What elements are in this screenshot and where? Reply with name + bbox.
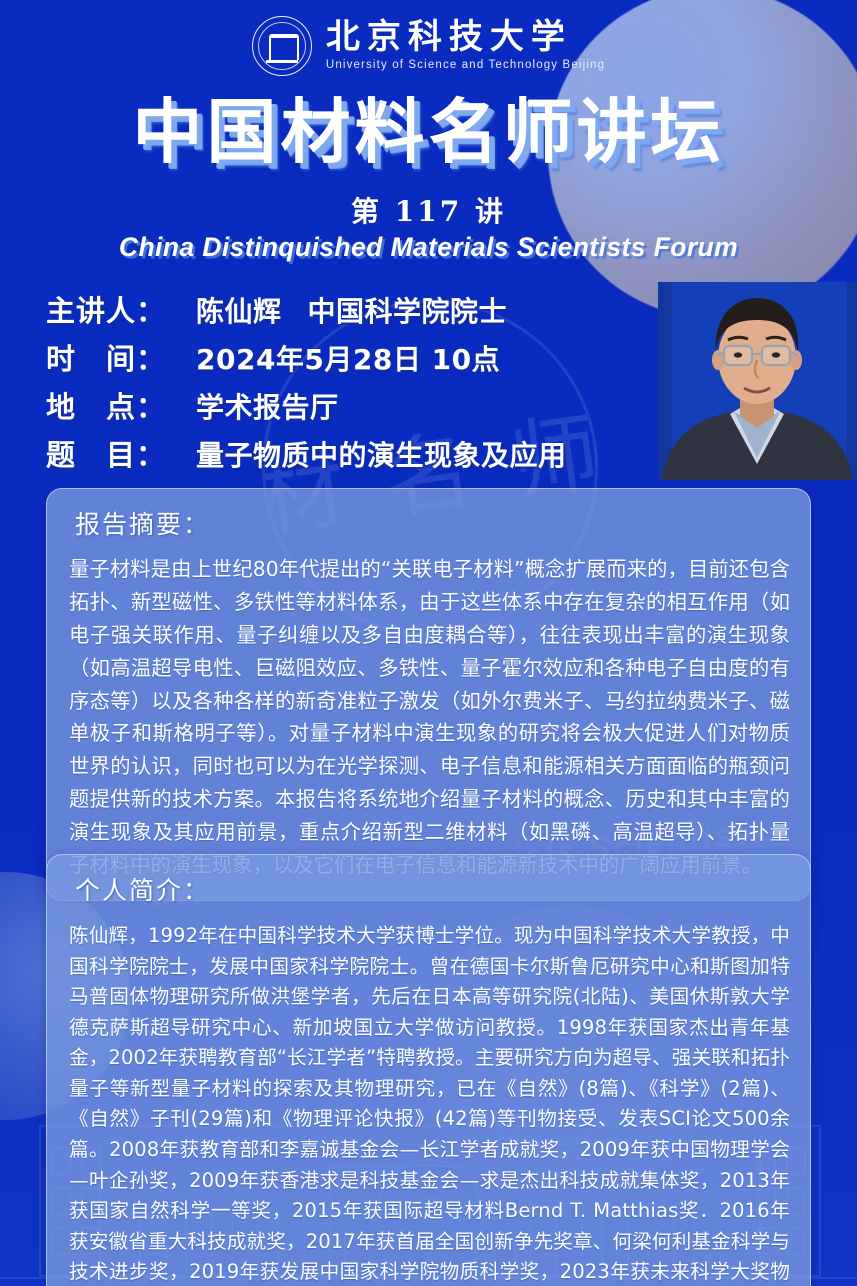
- university-logo: 北京科技大学 University of Science and Technol…: [0, 16, 857, 76]
- abstract-text: 量子材料是由上世纪80年代提出的“关联电子材料”概念扩展而来的，目前还包含拓扑、…: [69, 553, 790, 882]
- subtitle-english: China Distinquished Materials Scientists…: [0, 232, 857, 263]
- speaker-portrait: [658, 282, 857, 480]
- ustb-seal-icon: [252, 16, 312, 76]
- speaker-affiliation: 中国科学院院士: [308, 295, 508, 328]
- info-row-speaker: 主讲人： 陈仙辉中国科学院院士: [46, 288, 666, 330]
- info-row-place: 地 点： 学术报告厅: [46, 384, 666, 426]
- place-value: 学术报告厅: [196, 386, 339, 426]
- abstract-title: 报告摘要：: [75, 505, 790, 541]
- biography-text: 陈仙辉，1992年在中国科学技术大学获博士学位。现为中国科学技术大学教授，中国科…: [69, 921, 790, 1286]
- topic-label: 题 目：: [46, 432, 196, 474]
- time-label: 时 间：: [46, 336, 196, 378]
- session-number: 第 117 讲: [0, 190, 857, 230]
- event-info: 主讲人： 陈仙辉中国科学院院士 时 间： 2024年5月28日 10点 地 点：…: [46, 288, 666, 474]
- poster-root: 材 名 师 Distinquished Materials Scientists: [0, 0, 857, 1286]
- university-name-cn: 北京科技大学: [326, 20, 605, 54]
- speaker-label: 主讲人：: [46, 288, 196, 330]
- time-value: 2024年5月28日 10点: [196, 338, 500, 378]
- main-title: 中国材料名师讲坛: [0, 96, 857, 170]
- info-row-topic: 题 目： 量子物质中的演生现象及应用: [46, 432, 666, 474]
- seal-gate-base: [266, 60, 298, 63]
- abstract-card: 报告摘要： 量子材料是由上世纪80年代提出的“关联电子材料”概念扩展而来的，目前…: [46, 488, 811, 901]
- speaker-name: 陈仙辉: [196, 295, 282, 328]
- logo-wordmark: 北京科技大学 University of Science and Technol…: [326, 20, 605, 72]
- biography-card: 个人简介： 陈仙辉，1992年在中国科学技术大学获博士学位。现为中国科学技术大学…: [46, 854, 811, 1286]
- portrait-image: [658, 282, 857, 480]
- topic-value: 量子物质中的演生现象及应用: [196, 434, 567, 474]
- biography-title: 个人简介：: [75, 871, 790, 907]
- place-label: 地 点：: [46, 384, 196, 426]
- university-name-en: University of Science and Technology Bei…: [326, 60, 605, 72]
- info-row-time: 时 间： 2024年5月28日 10点: [46, 336, 666, 378]
- speaker-value: 陈仙辉中国科学院院士: [196, 290, 507, 330]
